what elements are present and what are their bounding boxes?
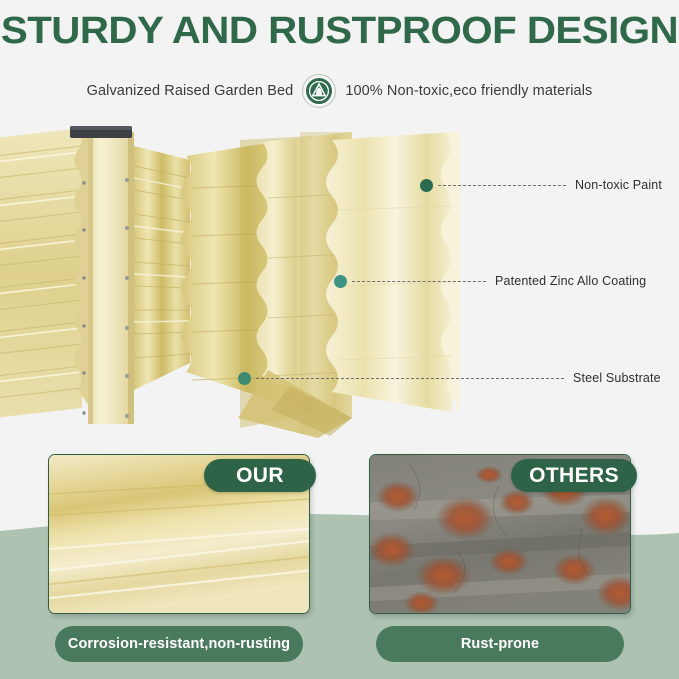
callout-non-toxic-paint: Non-toxic Paint (420, 178, 662, 192)
others-tag: OTHERS (511, 459, 637, 492)
panel-nontoxic-paint (326, 132, 460, 412)
infographic-page: STURDY AND RUSTPROOF DESIGN Galvanized R… (0, 0, 679, 679)
callout-label: Patented Zinc Allo Coating (495, 274, 646, 288)
eco-leaf-circle-icon (302, 74, 336, 108)
panel-mid-receding (134, 146, 190, 390)
subtitle-left: Galvanized Raised Garden Bed (87, 83, 294, 99)
callout-dot-icon (420, 179, 433, 192)
ours-caption-pill: Corrosion-resistant,non-rusting (55, 626, 303, 662)
callout-dot-icon (238, 372, 251, 385)
ours-tag: OUR (204, 459, 316, 492)
subtitle-right: 100% Non-toxic,eco friendly materials (345, 83, 592, 99)
comparison-card-others: OTHERS (369, 454, 631, 614)
callout-zinc-coating: Patented Zinc Allo Coating (334, 274, 646, 288)
comparison-card-ours: OUR (48, 454, 310, 614)
callout-label: Steel Substrate (573, 371, 661, 385)
comparison-section: OUR (0, 448, 679, 679)
others-caption-pill: Rust-prone (376, 626, 624, 662)
callout-leader-line (438, 185, 566, 186)
callout-label: Non-toxic Paint (575, 178, 662, 192)
callout-leader-line (352, 281, 486, 282)
callout-steel-substrate: Steel Substrate (238, 371, 661, 385)
eco-badge-glyph (305, 77, 333, 105)
page-title: STURDY AND RUSTPROOF DESIGN (0, 10, 679, 53)
callout-dot-icon (334, 275, 347, 288)
panel-left-run (0, 128, 82, 418)
subtitle-row: Galvanized Raised Garden Bed 100% Non-to… (0, 74, 679, 108)
callout-leader-line (256, 378, 564, 379)
